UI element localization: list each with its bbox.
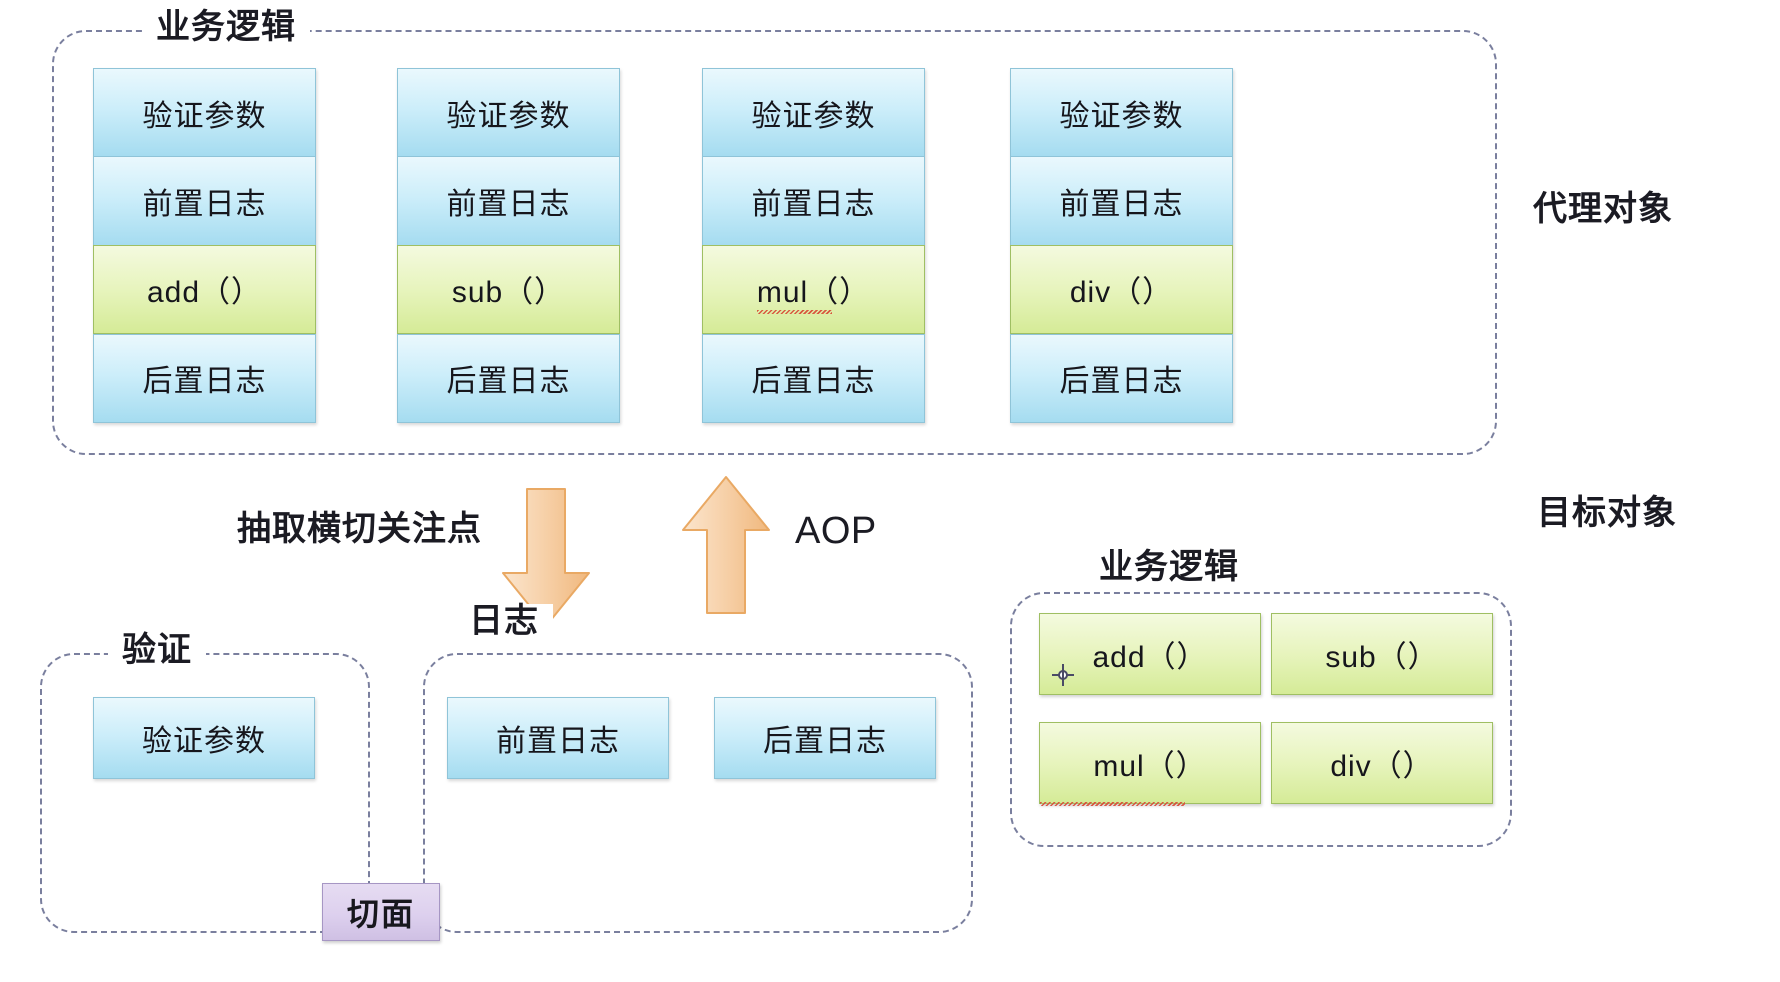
target-method-sub[interactable]: sub（） (1271, 613, 1493, 695)
extract-concerns-label: 抽取横切关注点 (237, 512, 482, 546)
proxy-cell-before-log: 前置日志 (397, 156, 620, 244)
aspect-item-validate-params[interactable]: 验证参数 (93, 697, 315, 779)
validation-group-container (40, 653, 370, 933)
proxy-cell-validate: 验证参数 (702, 68, 925, 156)
proxy-cell-method-div: div（） (1010, 245, 1233, 334)
proxy-cell-validate: 验证参数 (93, 68, 316, 156)
proxy-cell-validate: 验证参数 (397, 68, 620, 156)
crosshair-cursor-icon (1052, 664, 1074, 686)
target-section-caption: 业务逻辑 (1085, 550, 1253, 584)
diagram-canvas: 业务逻辑 代理对象 验证参数 前置日志 add（） 后置日志 验证参数 前置日志… (0, 0, 1780, 982)
target-method-mul[interactable]: mul（） (1039, 722, 1261, 804)
proxy-cell-after-log: 后置日志 (702, 334, 925, 423)
target-method-div[interactable]: div（） (1271, 722, 1493, 804)
proxy-method-column-add[interactable]: 验证参数 前置日志 add（） 后置日志 (93, 68, 316, 423)
logging-group-caption: 日志 (455, 604, 553, 638)
target-object-side-label: 目标对象 (1537, 496, 1677, 530)
proxy-section-caption: 业务逻辑 (142, 10, 310, 44)
proxy-cell-after-log: 后置日志 (397, 334, 620, 423)
proxy-cell-method-add: add（） (93, 245, 316, 334)
proxy-cell-method-sub: sub（） (397, 245, 620, 334)
proxy-cell-after-log: 后置日志 (93, 334, 316, 423)
proxy-cell-after-log: 后置日志 (1010, 334, 1233, 423)
aspect-item-after-log[interactable]: 后置日志 (714, 697, 936, 779)
logging-group-container (423, 653, 973, 933)
proxy-method-column-mul[interactable]: 验证参数 前置日志 mul（） 后置日志 (702, 68, 925, 423)
aop-label: AOP (795, 512, 877, 550)
proxy-method-column-div[interactable]: 验证参数 前置日志 div（） 后置日志 (1010, 68, 1233, 423)
arrow-up-icon (680, 474, 772, 616)
proxy-cell-before-log: 前置日志 (1010, 156, 1233, 244)
proxy-object-side-label: 代理对象 (1533, 192, 1673, 226)
proxy-cell-validate: 验证参数 (1010, 68, 1233, 156)
validation-group-caption: 验证 (108, 633, 206, 667)
proxy-cell-before-log: 前置日志 (93, 156, 316, 244)
proxy-cell-method-mul: mul（） (702, 245, 925, 334)
proxy-method-column-sub[interactable]: 验证参数 前置日志 sub（） 后置日志 (397, 68, 620, 423)
aspect-tag[interactable]: 切面 (322, 883, 440, 941)
aspect-item-before-log[interactable]: 前置日志 (447, 697, 669, 779)
proxy-cell-before-log: 前置日志 (702, 156, 925, 244)
